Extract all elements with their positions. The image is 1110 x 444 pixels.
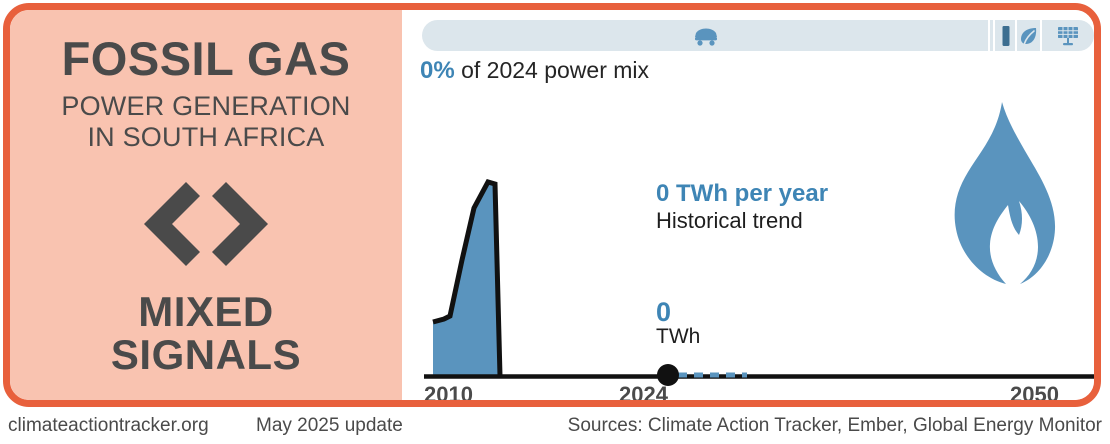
page-title: FOSSIL GAS [62,34,351,83]
current-value-annotation: 0 TWh [656,298,700,348]
trend-caption: Historical trend [656,208,828,234]
rating-line-1: MIXED [111,290,301,333]
trend-annotation: 0 TWh per year Historical trend [656,180,828,234]
trend-value: 0 TWh per year [656,180,828,208]
gas-flame-icon [950,98,1056,288]
footer: climateactiontracker.org May 2025 update… [0,410,1110,444]
footer-site-link[interactable]: climateactiontracker.org [8,415,209,437]
summary-panel: FOSSIL GAS POWER GENERATION IN SOUTH AFR… [10,10,402,400]
indicator-card: FOSSIL GAS POWER GENERATION IN SOUTH AFR… [3,3,1101,407]
subtitle-line-2: IN SOUTH AFRICA [61,122,350,152]
axis-tick-2024: 2024 [619,382,668,407]
axis-tick-2050: 2050 [1010,382,1059,407]
current-value-number: 0 [656,298,700,326]
mixed-signals-chevrons-icon [126,176,286,272]
axis-tick-2010: 2010 [424,382,473,407]
chart-area-historical [433,182,500,376]
rating-line-2: SIGNALS [111,333,301,376]
chart-panel: 0% of 2024 power mix 0 TWh per year Hist… [402,10,1094,400]
subtitle-line-1: POWER GENERATION [61,91,350,121]
page-subtitle: POWER GENERATION IN SOUTH AFRICA [61,91,350,151]
rating-label: MIXED SIGNALS [111,290,301,377]
footer-update-date: May 2025 update [256,415,403,437]
footer-sources: Sources: Climate Action Tracker, Ember, … [568,415,1102,437]
current-value-unit: TWh [656,326,700,348]
